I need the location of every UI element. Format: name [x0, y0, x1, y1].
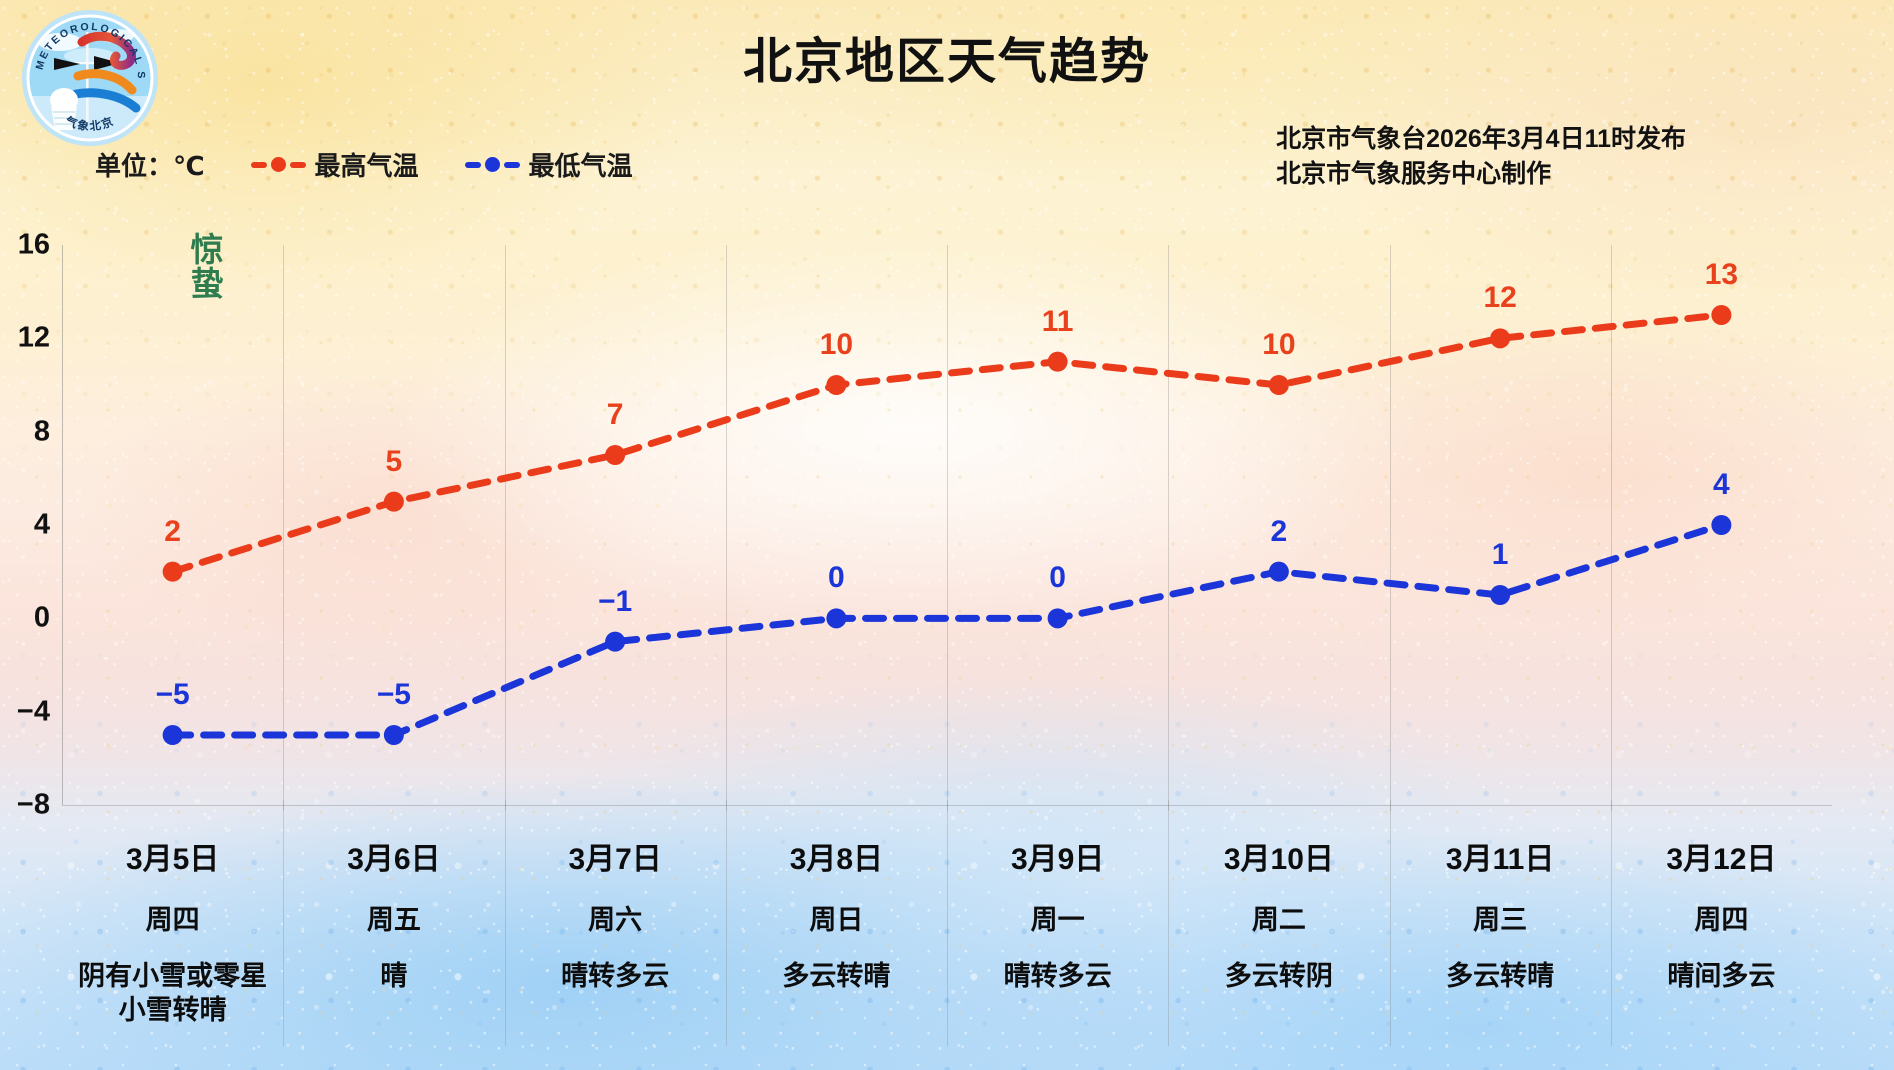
publisher-issue-line: 北京市气象台2026年3月4日11时发布 — [1276, 122, 1686, 157]
day-forecast-column[interactable]: 3月8日周日多云转晴 — [726, 812, 947, 1052]
legend-label-low: 最低气温 — [529, 146, 633, 183]
data-point[interactable] — [1490, 585, 1510, 605]
day-forecast-row: 3月5日周四阴有小雪或零星小雪转晴3月6日周五晴3月7日周六晴转多云3月8日周日… — [62, 812, 1832, 1052]
day-forecast-column[interactable]: 3月7日周六晴转多云 — [505, 812, 726, 1052]
day-column-divider — [1168, 800, 1169, 1046]
day-date-label: 3月12日 — [1611, 834, 1832, 878]
day-forecast-column[interactable]: 3月9日周一晴转多云 — [947, 812, 1168, 1052]
data-point[interactable] — [163, 562, 183, 582]
day-weekday-label: 周五 — [283, 898, 504, 937]
temperature-chart: 1612840−4−8 惊蛰 2571011101213−5−5−100214 — [62, 245, 1832, 805]
day-weekday-label: 周二 — [1168, 898, 1389, 937]
data-point-label: 4 — [1713, 468, 1730, 502]
day-forecast-column[interactable]: 3月5日周四阴有小雪或零星小雪转晴 — [62, 812, 283, 1052]
legend-marker-high — [251, 157, 306, 172]
data-point-label: 2 — [164, 515, 181, 549]
day-date-label: 3月9日 — [947, 834, 1168, 878]
day-forecast-column[interactable]: 3月12日周四晴间多云 — [1611, 812, 1832, 1052]
data-point[interactable] — [384, 725, 404, 745]
day-forecast-column[interactable]: 3月10日周二多云转阴 — [1168, 812, 1389, 1052]
legend-item-high[interactable]: 最高气温 — [251, 146, 419, 183]
data-point[interactable] — [605, 445, 625, 465]
data-point[interactable] — [1269, 375, 1289, 395]
data-point[interactable] — [1711, 515, 1731, 535]
data-point-label: 1 — [1492, 538, 1509, 572]
data-point-label: 10 — [1262, 328, 1295, 362]
data-point[interactable] — [163, 725, 183, 745]
day-weekday-label: 周一 — [947, 898, 1168, 937]
data-point-label: 0 — [828, 561, 845, 595]
day-condition-label: 多云转晴 — [726, 959, 947, 993]
y-axis-tick-label: −8 — [17, 789, 50, 822]
day-column-divider — [505, 800, 506, 1046]
data-point[interactable] — [1490, 328, 1510, 348]
day-date-label: 3月11日 — [1390, 834, 1611, 878]
day-date-label: 3月6日 — [283, 834, 504, 878]
day-condition-label: 晴间多云 — [1611, 959, 1832, 993]
day-forecast-column[interactable]: 3月6日周五晴 — [283, 812, 504, 1052]
data-point[interactable] — [384, 492, 404, 512]
legend-marker-low — [465, 157, 520, 172]
data-point-label: 12 — [1483, 281, 1516, 315]
series-lines — [62, 245, 1832, 805]
publisher-producer-line: 北京市气象服务中心制作 — [1276, 157, 1686, 192]
data-point-label: 2 — [1271, 515, 1288, 549]
data-point[interactable] — [1048, 352, 1068, 372]
day-column-divider — [726, 800, 727, 1046]
series-line-high — [173, 315, 1722, 572]
day-forecast-column[interactable]: 3月11日周三多云转晴 — [1390, 812, 1611, 1052]
data-point-label: 11 — [1042, 305, 1074, 339]
day-date-label: 3月7日 — [505, 834, 726, 878]
page-title: 北京地区天气趋势 — [0, 22, 1894, 93]
day-weekday-label: 周四 — [62, 898, 283, 937]
legend-label-high: 最高气温 — [315, 146, 419, 183]
day-condition-label: 多云转阴 — [1168, 959, 1389, 993]
data-point[interactable] — [826, 375, 846, 395]
y-axis-tick-label: 12 — [18, 322, 50, 355]
day-column-divider — [1390, 800, 1391, 1046]
y-axis-tick-label: −4 — [17, 695, 50, 728]
unit-label: 单位：℃ — [95, 146, 205, 183]
legend-item-low[interactable]: 最低气温 — [465, 146, 633, 183]
day-weekday-label: 周日 — [726, 898, 947, 937]
day-date-label: 3月5日 — [62, 834, 283, 878]
data-point[interactable] — [1269, 562, 1289, 582]
day-condition-label: 阴有小雪或零星小雪转晴 — [62, 959, 283, 1027]
data-point-label: −5 — [156, 678, 190, 712]
data-point[interactable] — [605, 632, 625, 652]
data-point-label: 13 — [1705, 258, 1738, 292]
day-column-divider — [947, 800, 948, 1046]
day-column-divider — [1611, 800, 1612, 1046]
data-point[interactable] — [1711, 305, 1731, 325]
data-point-label: 7 — [607, 398, 624, 432]
data-point-label: −1 — [598, 585, 632, 619]
day-column-divider — [283, 800, 284, 1046]
data-point[interactable] — [826, 608, 846, 628]
y-axis-tick-label: 0 — [34, 602, 50, 635]
day-condition-label: 多云转晴 — [1390, 959, 1611, 993]
y-axis-tick-label: 4 — [34, 509, 50, 542]
chart-legend: 单位：℃ 最高气温 最低气温 — [95, 146, 633, 183]
data-point[interactable] — [1048, 608, 1068, 628]
day-condition-label: 晴转多云 — [947, 959, 1168, 993]
day-weekday-label: 周三 — [1390, 898, 1611, 937]
data-point-label: −5 — [377, 678, 411, 712]
day-weekday-label: 周六 — [505, 898, 726, 937]
day-condition-label: 晴转多云 — [505, 959, 726, 993]
y-axis-tick-label: 8 — [34, 415, 50, 448]
day-condition-label: 晴 — [283, 959, 504, 993]
day-date-label: 3月10日 — [1168, 834, 1389, 878]
publisher-info: 北京市气象台2026年3月4日11时发布 北京市气象服务中心制作 — [1276, 122, 1686, 191]
day-weekday-label: 周四 — [1611, 898, 1832, 937]
y-axis-tick-label: 16 — [18, 229, 50, 262]
data-point-label: 5 — [386, 445, 403, 479]
data-point-label: 0 — [1049, 561, 1066, 595]
day-date-label: 3月8日 — [726, 834, 947, 878]
data-point-label: 10 — [820, 328, 853, 362]
